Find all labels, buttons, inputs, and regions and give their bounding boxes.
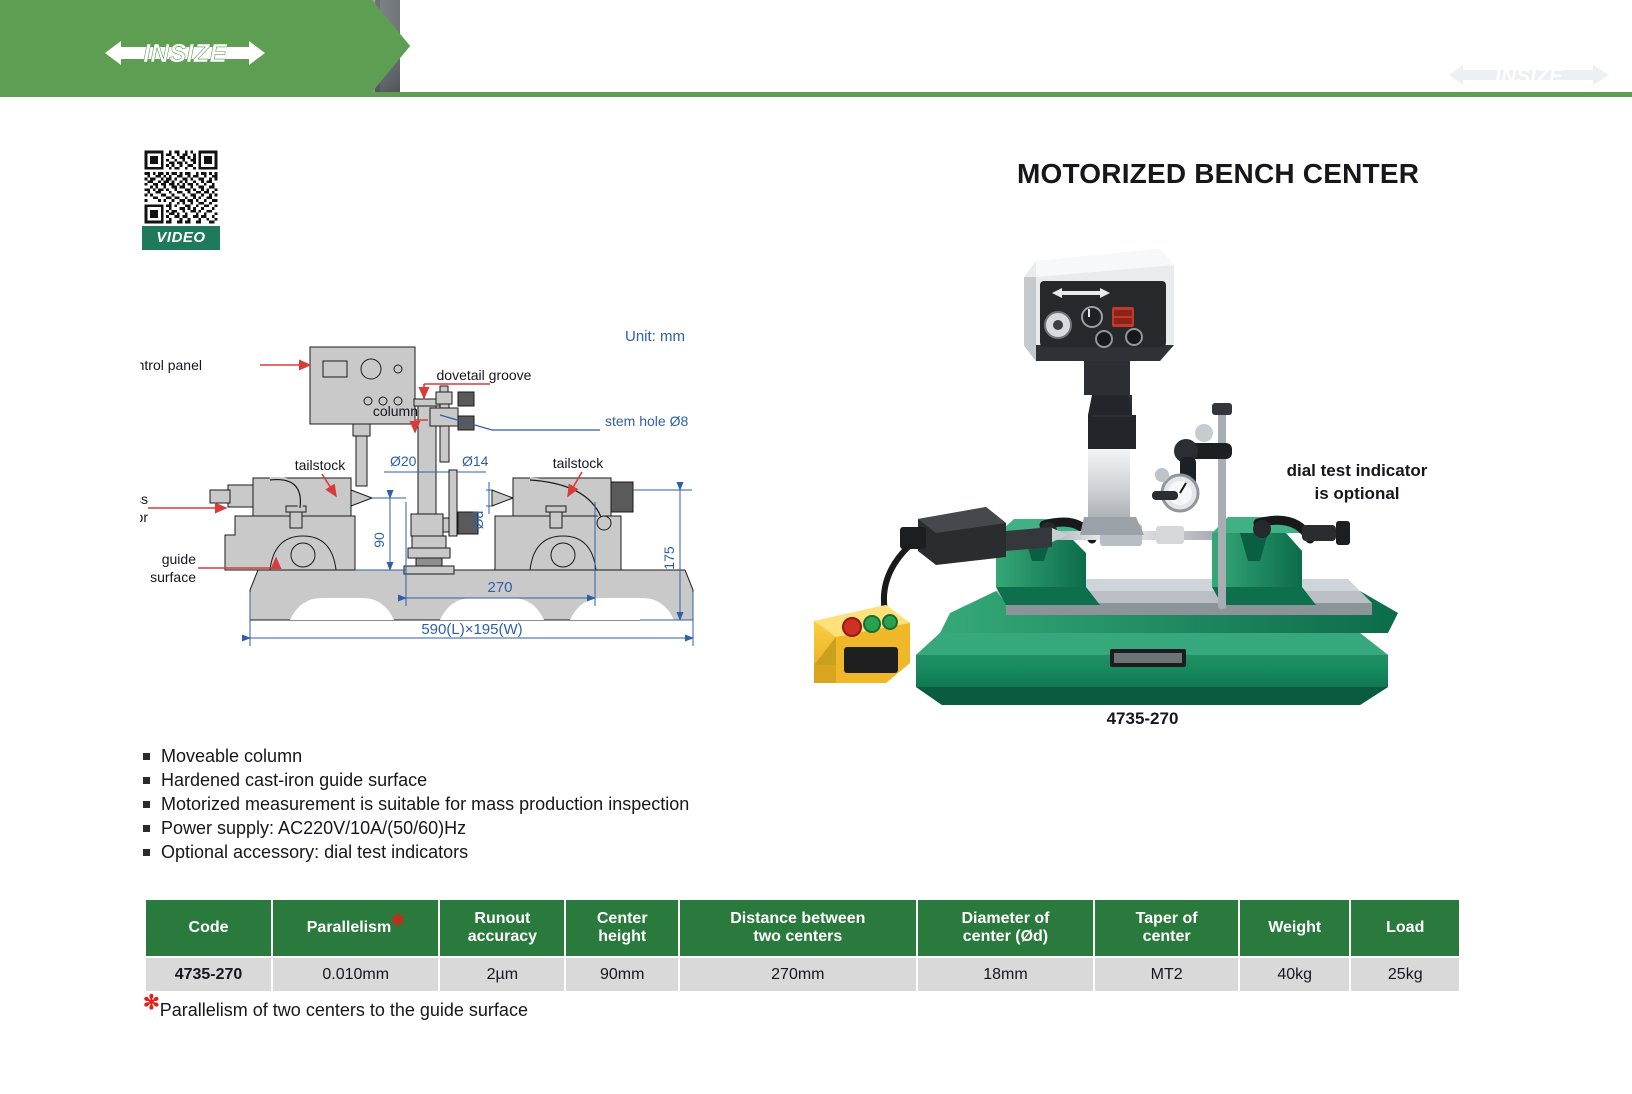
bullet-square-icon xyxy=(143,817,161,832)
bullet-square-icon xyxy=(143,745,161,760)
cell-code: 4735-270 xyxy=(146,957,272,991)
cell-distance-between-centers: 270mm xyxy=(679,957,917,991)
label-control-panel: control panel xyxy=(140,357,202,373)
col-header-parallelism-text: Parallelism xyxy=(307,919,392,936)
feature-text: Motorized measurement is suitable for ma… xyxy=(161,793,689,816)
feature-text: Hardened cast-iron guide surface xyxy=(161,769,427,792)
list-item: Optional accessory: dial test indicators xyxy=(143,841,1043,864)
bullet-square-icon xyxy=(143,841,161,856)
svg-text:INSIZE: INSIZE xyxy=(1495,65,1564,88)
product-model-caption: 4735-270 xyxy=(1030,709,1255,729)
cell-taper-of-center: MT2 xyxy=(1094,957,1239,991)
feature-text: Moveable column xyxy=(161,745,302,768)
label-tailstock-left: tailstock xyxy=(295,457,347,473)
col-header-code-text: Code xyxy=(189,919,229,936)
col-header-load-text: Load xyxy=(1386,919,1424,936)
list-item: Hardened cast-iron guide surface xyxy=(143,769,1043,792)
dim-d14: Ø14 xyxy=(462,453,489,469)
cell-runout-accuracy: 2µm xyxy=(439,957,565,991)
asterisk-marker: ✻ xyxy=(143,992,160,1014)
dim-overall-height: 175 xyxy=(661,546,677,570)
dim-center-height: 90 xyxy=(371,532,387,548)
table-header-row: Code Parallelism✻ Runoutaccuracy Centerh… xyxy=(146,900,1459,957)
technical-drawing: control panel tailstock brushless DC mot… xyxy=(140,320,720,655)
dim-base-size: 590(L)×195(W) xyxy=(421,621,522,638)
col-header-code: Code xyxy=(146,900,272,957)
col-header-parallelism: Parallelism✻ xyxy=(272,900,439,957)
dim-dia-d: Ød xyxy=(470,511,486,530)
feature-text: Power supply: AC220V/10A/(50/60)Hz xyxy=(161,817,466,840)
footnote-text: Parallelism of two centers to the guide … xyxy=(160,1000,528,1020)
col-header-runout-text: Runoutaccuracy xyxy=(468,910,537,945)
label-tailstock-right: tailstock xyxy=(553,455,605,471)
col-header-distance: Distance betweentwo centers xyxy=(679,900,917,957)
dti-note-line1: dial test indicator xyxy=(1287,461,1428,480)
video-qr-block[interactable]: VIDEO xyxy=(142,148,220,250)
col-header-distance-text: Distance betweentwo centers xyxy=(730,910,865,945)
col-header-weight: Weight xyxy=(1239,900,1351,957)
col-header-weight-text: Weight xyxy=(1268,919,1321,936)
list-item: Motorized measurement is suitable for ma… xyxy=(143,793,1043,816)
list-item: Moveable column xyxy=(143,745,1043,768)
svg-text:INSIZE: INSIZE xyxy=(143,38,227,68)
label-guide-2: surface xyxy=(150,569,196,585)
col-header-taper-text: Taper ofcenter xyxy=(1136,910,1198,945)
dti-note-line2: is optional xyxy=(1315,484,1400,503)
dim-stem-hole: stem hole Ø8 xyxy=(605,413,688,429)
cell-weight: 40kg xyxy=(1239,957,1351,991)
bullet-square-icon xyxy=(143,793,161,808)
page-header: INSIZE INSIZE xyxy=(0,0,1632,97)
label-guide-1: guide xyxy=(162,551,196,567)
qr-code-icon xyxy=(142,148,220,226)
insize-logo: INSIZE xyxy=(95,34,275,72)
label-column: column xyxy=(373,403,418,419)
label-brushless-2: DC motor xyxy=(140,509,148,525)
dim-d20: Ø20 xyxy=(390,453,417,469)
asterisk-marker: ✻ xyxy=(391,912,404,929)
table-row: 4735-270 0.010mm 2µm 90mm 270mm 18mm MT2… xyxy=(146,957,1459,991)
col-header-taper: Taper ofcenter xyxy=(1094,900,1239,957)
col-header-runout: Runoutaccuracy xyxy=(439,900,565,957)
page-title: MOTORIZED BENCH CENTER xyxy=(1017,158,1577,190)
insize-watermark-logo: INSIZE xyxy=(1443,60,1615,90)
col-header-diameter: Diameter ofcenter (Ød) xyxy=(917,900,1095,957)
label-dovetail-groove: dovetail groove xyxy=(437,367,532,383)
col-header-center-height-text: Centerheight xyxy=(597,910,648,945)
cell-load: 25kg xyxy=(1350,957,1459,991)
col-header-center-height: Centerheight xyxy=(565,900,679,957)
label-brushless-1: brushless xyxy=(140,491,148,507)
cell-center-height: 90mm xyxy=(565,957,679,991)
specification-table: Code Parallelism✻ Runoutaccuracy Centerh… xyxy=(146,900,1459,991)
dim-between-centers: 270 xyxy=(487,579,512,596)
cell-diameter-of-center: 18mm xyxy=(917,957,1095,991)
bullet-square-icon xyxy=(143,769,161,784)
video-badge-label: VIDEO xyxy=(142,226,220,250)
feature-text: Optional accessory: dial test indicators xyxy=(161,841,468,864)
cell-parallelism: 0.010mm xyxy=(272,957,439,991)
header-divider xyxy=(0,92,1632,97)
dial-test-indicator-note: dial test indicator is optional xyxy=(1252,460,1462,506)
list-item: Power supply: AC220V/10A/(50/60)Hz xyxy=(143,817,1043,840)
feature-list: Moveable column Hardened cast-iron guide… xyxy=(143,745,1043,865)
col-header-load: Load xyxy=(1350,900,1459,957)
col-header-diameter-text: Diameter ofcenter (Ød) xyxy=(961,910,1049,945)
table-footnote: ✻Parallelism of two centers to the guide… xyxy=(143,1000,528,1021)
